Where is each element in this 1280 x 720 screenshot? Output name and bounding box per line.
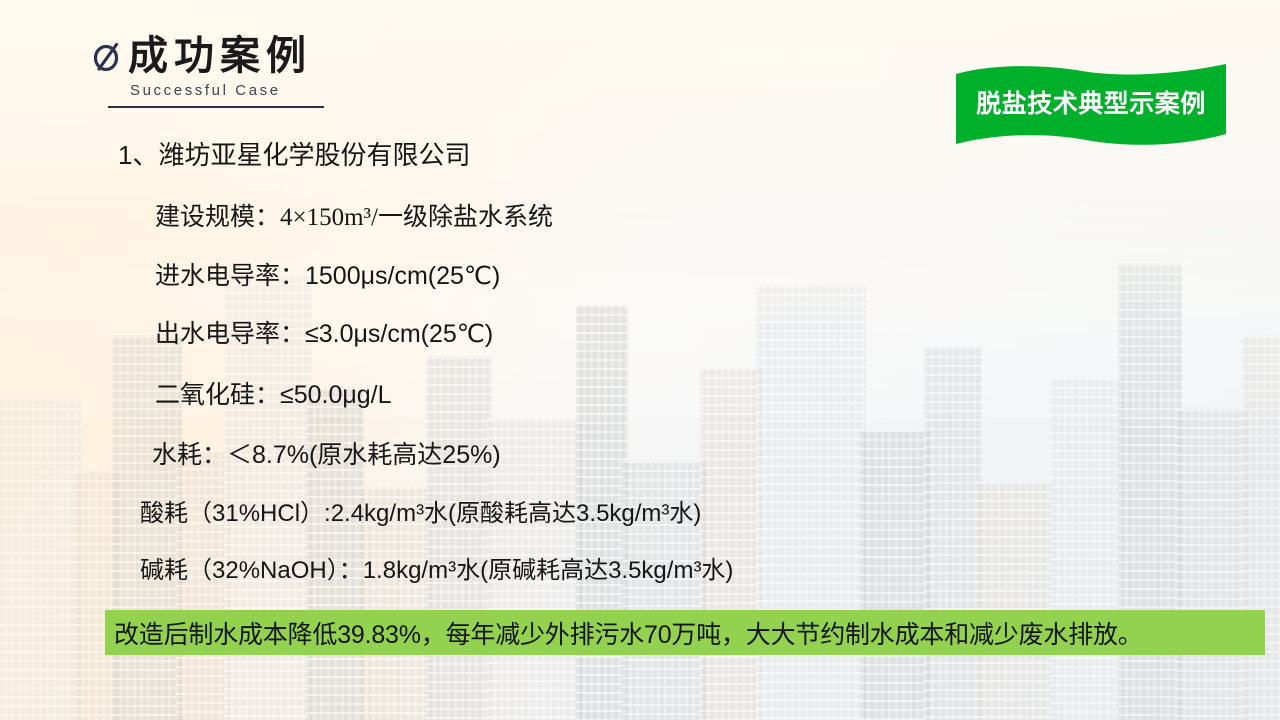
slide: 成功案例 Successful Case 脱盐技术典型示案例 1、潍坊亚星化学股… bbox=[0, 0, 1280, 720]
title-divider bbox=[108, 106, 324, 108]
spec-inlet-conductivity: 进水电导率：1500μs/cm(25℃) bbox=[155, 264, 500, 289]
spec-water-consumption: 水耗：＜8.7%(原水耗高达25%) bbox=[152, 443, 501, 468]
company-name: 1、潍坊亚星化学股份有限公司 bbox=[118, 142, 470, 168]
conclusion-text: 改造后制水成本降低39.83%，每年减少外排污水70万吨，大大节约制水成本和减少… bbox=[114, 615, 1143, 651]
spec-silica: 二氧化硅：≤50.0μg/L bbox=[155, 383, 392, 408]
spec-alkali-consumption: 碱耗（32%NaOH）：1.8kg/m³水(原碱耗高达3.5kg/m³水) bbox=[140, 559, 733, 583]
circle-slash-icon bbox=[92, 39, 122, 73]
page-title-block: 成功案例 Successful Case bbox=[92, 34, 512, 108]
ribbon-badge: 脱盐技术典型示案例 bbox=[952, 60, 1230, 150]
page-subtitle: Successful Case bbox=[130, 82, 512, 99]
spec-acid-consumption: 酸耗（31%HCl）:2.4kg/m³水(原酸耗高达3.5kg/m³水) bbox=[140, 502, 701, 526]
conclusion-bar: 改造后制水成本降低39.83%，每年减少外排污水70万吨，大大节约制水成本和减少… bbox=[105, 610, 1265, 655]
spec-scale: 建设规模：4×150m³/一级除盐水系统 bbox=[155, 205, 553, 230]
ribbon-label: 脱盐技术典型示案例 bbox=[952, 84, 1230, 120]
page-title: 成功案例 bbox=[128, 34, 312, 78]
spec-outlet-conductivity: 出水电导率：≤3.0μs/cm(25℃) bbox=[155, 322, 493, 347]
title-row: 成功案例 bbox=[92, 34, 512, 78]
